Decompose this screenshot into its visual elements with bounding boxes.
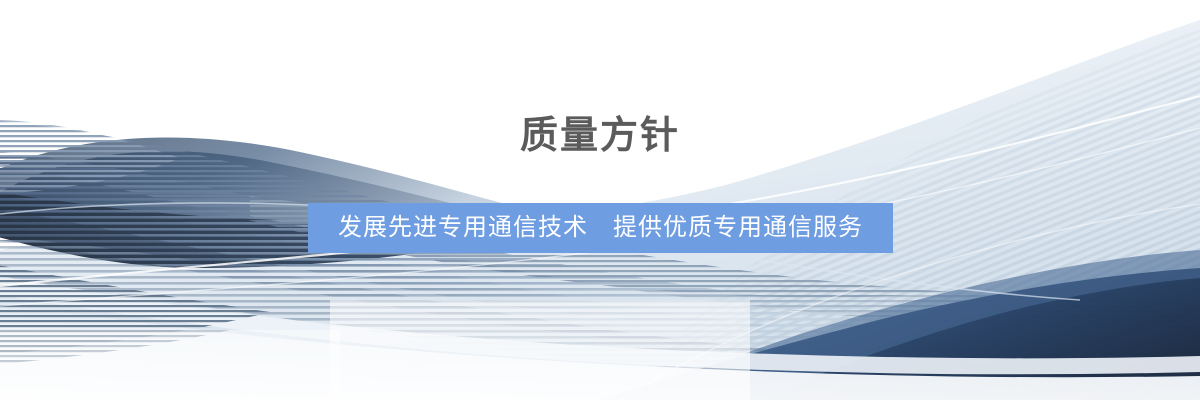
banner-content: 质量方针 发展先进专用通信技术 提供优质专用通信服务 (0, 0, 1200, 400)
page-title: 质量方针 (0, 113, 1200, 159)
quality-policy-banner: 质量方针 发展先进专用通信技术 提供优质专用通信服务 (0, 0, 1200, 400)
slogan-bar: 发展先进专用通信技术 提供优质专用通信服务 (308, 203, 893, 253)
slogan-text: 发展先进专用通信技术 提供优质专用通信服务 (338, 213, 863, 243)
